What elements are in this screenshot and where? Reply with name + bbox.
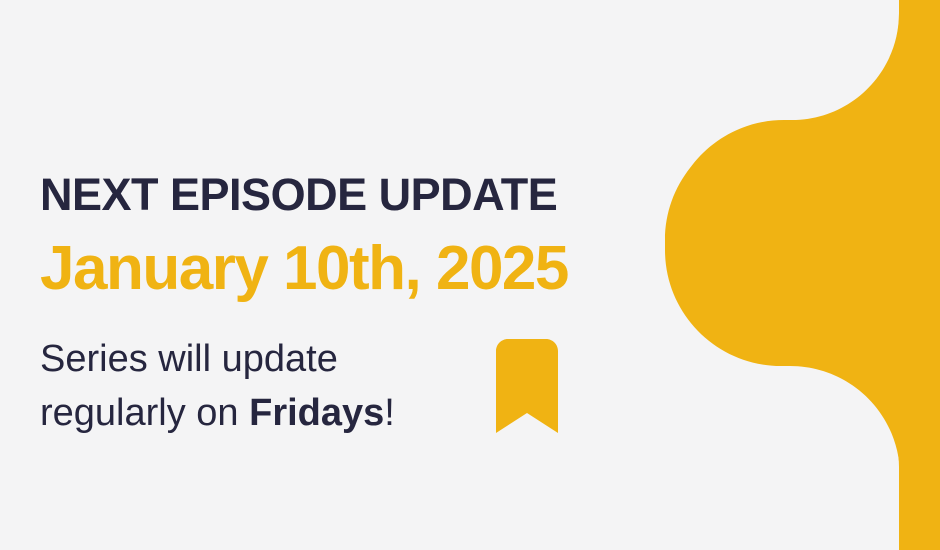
eyebrow-text: NEXT EPISODE UPDATE bbox=[40, 172, 557, 217]
bookmark-icon bbox=[496, 339, 558, 433]
subcopy-line-2-emphasis: Fridays bbox=[249, 392, 384, 434]
next-episode-banner: NEXT EPISODE UPDATE January 10th, 2025 S… bbox=[0, 0, 940, 550]
banner-content: NEXT EPISODE UPDATE January 10th, 2025 S… bbox=[40, 0, 720, 550]
subcopy-text: Series will update regularly on Fridays! bbox=[40, 332, 395, 440]
headline-date: January 10th, 2025 bbox=[40, 238, 568, 300]
subcopy-line-2-suffix: ! bbox=[384, 392, 395, 434]
subcopy-line-1: Series will update bbox=[40, 332, 395, 386]
subcopy-line-2: regularly on Fridays! bbox=[40, 386, 395, 440]
subcopy-line-2-prefix: regularly on bbox=[40, 392, 249, 434]
